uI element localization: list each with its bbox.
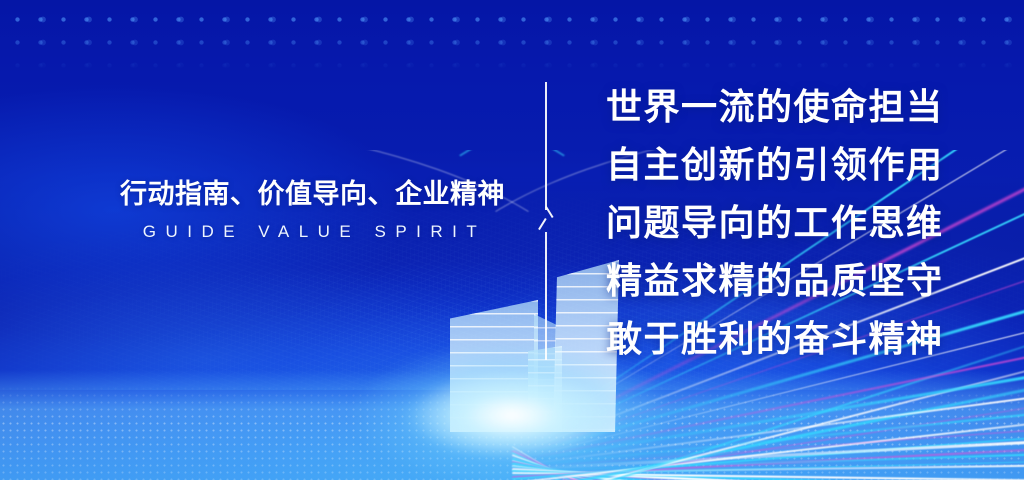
vertical-divider (545, 82, 561, 360)
halftone-dots-pattern-secondary (0, 0, 1024, 70)
right-line-2: 自主创新的引领作用 (606, 136, 944, 194)
divider-upper-segment (545, 82, 547, 210)
corporate-culture-banner: 行动指南、价值导向、企业精神 GUIDE VALUE SPIRIT 世界一流的使… (0, 0, 1024, 480)
right-line-5: 敢于胜利的奋斗精神 (606, 310, 944, 368)
chevron-right-icon (545, 207, 554, 229)
divider-lower-segment (545, 232, 547, 360)
left-title: 行动指南、价值导向、企业精神 (120, 178, 500, 210)
right-text-block: 世界一流的使命担当 自主创新的引领作用 问题导向的工作思维 精益求精的品质坚守 … (606, 78, 944, 368)
right-line-3: 问题导向的工作思维 (606, 194, 944, 252)
chevron-upper-stroke (545, 206, 554, 218)
right-line-4: 精益求精的品质坚守 (606, 252, 944, 310)
left-subtitle: GUIDE VALUE SPIRIT (120, 222, 500, 242)
right-line-1: 世界一流的使命担当 (606, 78, 944, 136)
left-text-block: 行动指南、价值导向、企业精神 GUIDE VALUE SPIRIT (120, 178, 500, 242)
